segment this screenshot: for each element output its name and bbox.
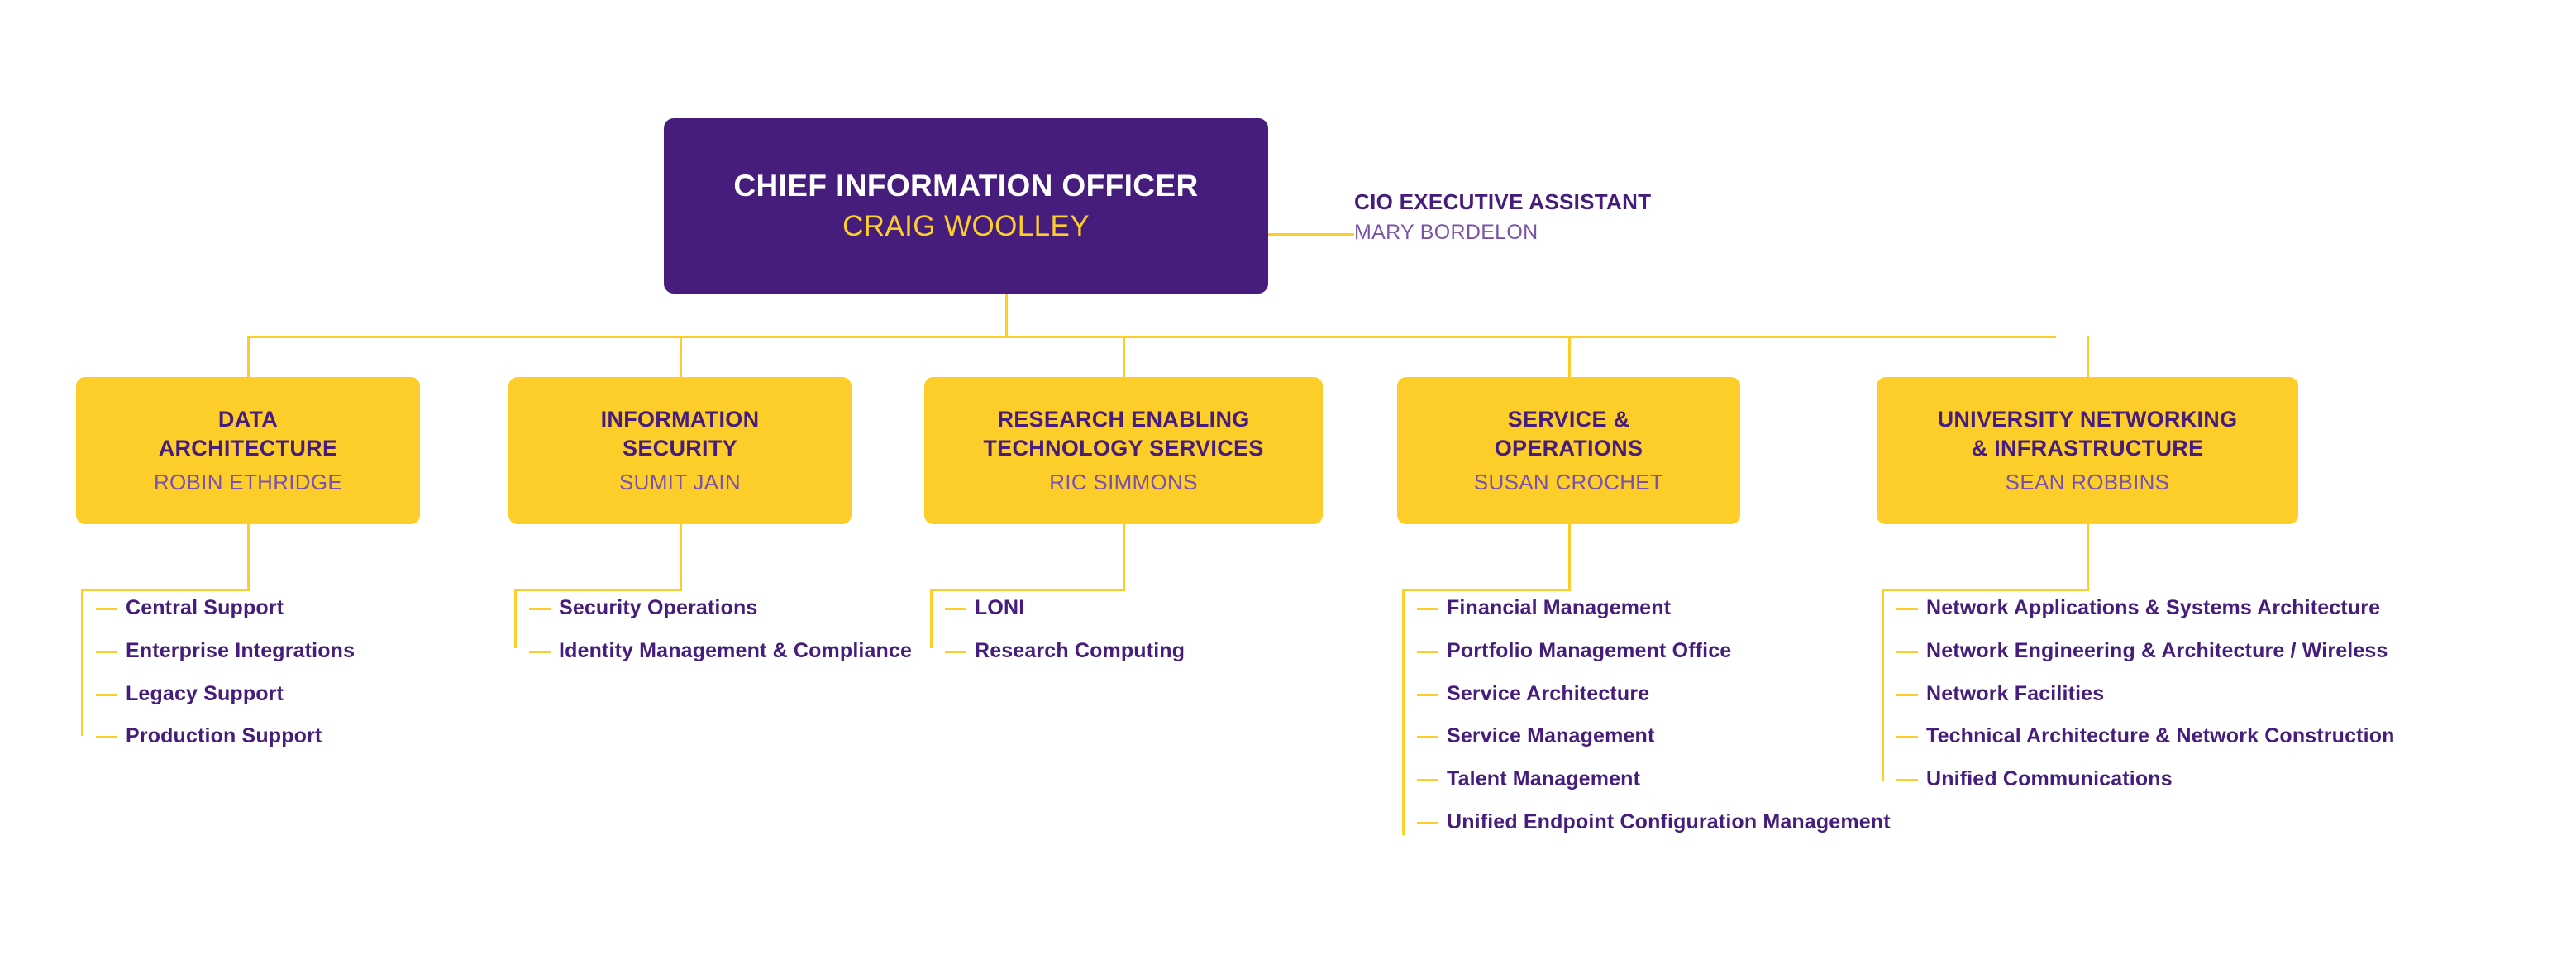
department-column: DATAARCHITECTUREROBIN ETHRIDGE (76, 377, 420, 524)
connector-sub-tick (96, 736, 117, 738)
department-column: RESEARCH ENABLINGTECHNOLOGY SERVICESRIC … (924, 377, 1323, 524)
connector-sub-spine (81, 589, 83, 736)
department-column: INFORMATIONSECURITYSUMIT JAIN (508, 377, 852, 524)
connector-sub-tick (945, 608, 966, 610)
sub-item-label: Unified Endpoint Configuration Managemen… (1447, 810, 1891, 833)
connector-sub-tick (1417, 651, 1438, 653)
department-column: SERVICE &OPERATIONSSUSAN CROCHET (1397, 377, 1740, 524)
connector-drop (1568, 336, 1571, 377)
sub-item[interactable]: Financial Management (1447, 595, 2005, 622)
department-title: SERVICE & (1508, 405, 1630, 434)
node-cio-executive-assistant[interactable]: CIO EXECUTIVE ASSISTANT MARY BORDELON (1354, 189, 1883, 246)
connector-sub-tick (1417, 822, 1438, 824)
connector-sub-tick (1896, 608, 1918, 610)
connector-sub-elbow (1402, 589, 1571, 591)
connector-trunk-vertical (1005, 294, 1008, 337)
sub-item[interactable]: Production Support (126, 723, 685, 750)
connector-sub-stem (247, 524, 250, 589)
connector-drop (1123, 336, 1125, 377)
department-box[interactable]: RESEARCH ENABLINGTECHNOLOGY SERVICESRIC … (924, 377, 1323, 524)
connector-sub-elbow (1882, 589, 2089, 591)
org-chart: CHIEF INFORMATION OFFICER CRAIG WOOLLEY … (0, 0, 2576, 974)
department-lead-name: ROBIN ETHRIDGE (154, 469, 342, 497)
sub-item[interactable]: Unified Communications (1926, 766, 2563, 793)
sub-item[interactable]: Service Architecture (1447, 681, 2005, 708)
department-box[interactable]: DATAARCHITECTUREROBIN ETHRIDGE (76, 377, 420, 524)
sub-item-label: Technical Architecture & Network Constru… (1926, 724, 2395, 747)
department-title: UNIVERSITY NETWORKING (1938, 405, 2238, 434)
connector-sub-elbow (81, 589, 250, 591)
department-lead-name: SUSAN CROCHET (1474, 469, 1663, 497)
connector-sub-spine (1882, 589, 1884, 781)
connector-sub-spine (1402, 589, 1405, 835)
cio-name: CRAIG WOOLLEY (842, 210, 1090, 243)
connector-sub-stem (1568, 524, 1571, 589)
sub-item-label: Legacy Support (126, 682, 284, 705)
connector-sub-tick (529, 608, 551, 610)
sub-item-label: Enterprise Integrations (126, 639, 355, 662)
connector-sub-tick (1896, 736, 1918, 738)
department-title: RESEARCH ENABLING (997, 405, 1249, 434)
connector-sub-tick (96, 651, 117, 653)
department-title: INFORMATION (601, 405, 760, 434)
department-box[interactable]: INFORMATIONSECURITYSUMIT JAIN (508, 377, 852, 524)
department-title-line2: TECHNOLOGY SERVICES (983, 434, 1263, 463)
sub-item[interactable]: Network Facilities (1926, 681, 2563, 708)
connector-trunk-bus (248, 336, 2056, 338)
assistant-title: CIO EXECUTIVE ASSISTANT (1354, 189, 1883, 217)
assistant-name: MARY BORDELON (1354, 219, 1883, 246)
connector-sub-spine (930, 589, 933, 648)
department-lead-name: RIC SIMMONS (1049, 469, 1198, 497)
connector-sub-tick (1896, 694, 1918, 696)
sub-item-list: Network Applications & Systems Architect… (1926, 595, 2563, 809)
sub-item[interactable]: Portfolio Management Office (1447, 638, 2005, 665)
node-chief-information-officer[interactable]: CHIEF INFORMATION OFFICER CRAIG WOOLLEY (664, 118, 1268, 294)
connector-sub-tick (945, 651, 966, 653)
connector-sub-tick (96, 608, 117, 610)
sub-item-label: Network Facilities (1926, 682, 2104, 705)
department-box[interactable]: SERVICE &OPERATIONSSUSAN CROCHET (1397, 377, 1740, 524)
sub-item[interactable]: Technical Architecture & Network Constru… (1926, 723, 2563, 750)
sub-item-label: Security Operations (559, 596, 757, 619)
sub-item[interactable]: Service Management (1447, 723, 2005, 750)
connector-sub-tick (1896, 779, 1918, 781)
department-title-line2: & INFRASTRUCTURE (1972, 434, 2204, 463)
department-column: UNIVERSITY NETWORKING& INFRASTRUCTURESEA… (1877, 377, 2298, 524)
connector-sub-elbow (930, 589, 1125, 591)
sub-item-label: Service Management (1447, 724, 1654, 747)
connector-sub-tick (1896, 651, 1918, 653)
connector-sub-tick (96, 694, 117, 696)
department-title-line2: ARCHITECTURE (159, 434, 338, 463)
department-box[interactable]: UNIVERSITY NETWORKING& INFRASTRUCTURESEA… (1877, 377, 2298, 524)
connector-sub-spine (514, 589, 517, 648)
connector-sub-stem (1123, 524, 1125, 589)
connector-sub-tick (529, 651, 551, 653)
sub-item-label: Research Computing (975, 639, 1185, 662)
connector-sub-tick (1417, 736, 1438, 738)
connector-sub-stem (680, 524, 682, 589)
connector-drop (680, 336, 682, 377)
sub-item-label: Talent Management (1447, 767, 1640, 790)
sub-item[interactable]: Talent Management (1447, 766, 2005, 793)
sub-item[interactable]: Unified Endpoint Configuration Managemen… (1447, 809, 2005, 836)
connector-sub-elbow (514, 589, 682, 591)
sub-item[interactable]: Legacy Support (126, 681, 685, 708)
connector-sub-tick (1417, 694, 1438, 696)
connector-sub-tick (1417, 779, 1438, 781)
sub-item-label: Central Support (126, 596, 284, 619)
department-title-line2: SECURITY (623, 434, 737, 463)
sub-item-label: Unified Communications (1926, 767, 2173, 790)
department-title-line2: OPERATIONS (1495, 434, 1643, 463)
department-lead-name: SUMIT JAIN (619, 469, 741, 497)
cio-title: CHIEF INFORMATION OFFICER (733, 169, 1198, 204)
sub-item-label: Service Architecture (1447, 682, 1649, 705)
connector-drop (247, 336, 250, 377)
sub-item-label: LONI (975, 596, 1024, 619)
sub-item[interactable]: Network Engineering & Architecture / Wir… (1926, 638, 2563, 665)
sub-item-label: Financial Management (1447, 596, 1671, 619)
sub-item[interactable]: Network Applications & Systems Architect… (1926, 595, 2563, 622)
department-title: DATA (218, 405, 278, 434)
connector-assistant (1268, 233, 1354, 236)
sub-item-list: Financial ManagementPortfolio Management… (1447, 595, 2005, 852)
connector-drop (2087, 336, 2089, 377)
department-lead-name: SEAN ROBBINS (2006, 469, 2170, 497)
sub-item-label: Production Support (126, 724, 322, 747)
sub-item-label: Portfolio Management Office (1447, 639, 1731, 662)
connector-sub-stem (2087, 524, 2089, 589)
sub-item-label: Network Engineering & Architecture / Wir… (1926, 639, 2388, 662)
sub-item-label: Network Applications & Systems Architect… (1926, 596, 2380, 619)
sub-item-label: Identity Management & Compliance (559, 639, 912, 662)
connector-sub-tick (1417, 608, 1438, 610)
